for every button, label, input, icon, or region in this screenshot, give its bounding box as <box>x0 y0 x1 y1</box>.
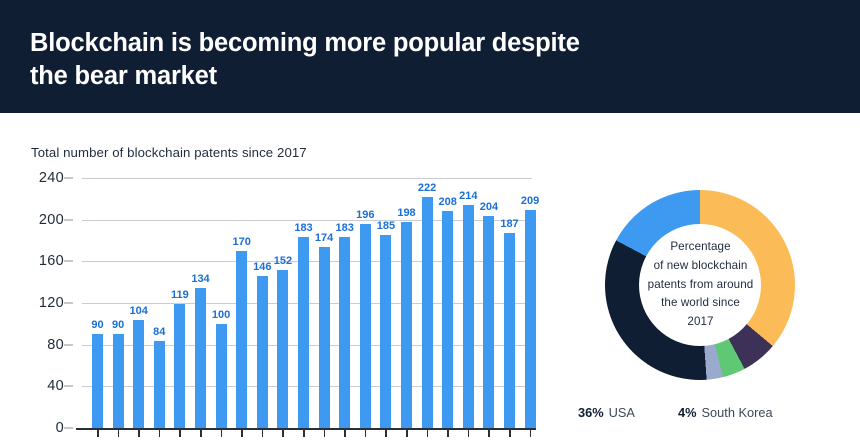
bar <box>195 288 206 428</box>
bar-value-label: 196 <box>356 209 374 221</box>
bar <box>92 334 103 428</box>
x-axis-tick-mark <box>179 430 181 437</box>
bar <box>298 237 309 428</box>
bar <box>442 211 453 428</box>
bar-value-label: 104 <box>130 305 148 317</box>
bar <box>277 270 288 428</box>
bar <box>463 205 474 428</box>
donut-center-line: of new blockchain <box>654 257 748 276</box>
bar-value-label: 152 <box>274 255 292 267</box>
x-axis-tick-mark <box>97 430 99 437</box>
bar-chart: 04080120160200240 9090104841191341001701… <box>0 178 560 448</box>
bar-plot-area: 9090104841191341001701461521831741831961… <box>82 178 532 428</box>
page-title-line2: the bear market <box>30 62 217 90</box>
bar-value-label: 183 <box>294 222 312 234</box>
bar <box>216 324 227 428</box>
bar-value-label: 209 <box>521 195 539 207</box>
donut-legend: 36%USA4%South Korea <box>578 405 860 444</box>
bar <box>319 247 330 428</box>
y-axis-tick-label: 0 <box>56 420 64 436</box>
x-axis-tick-mark <box>241 430 243 437</box>
x-axis-tick-mark <box>427 430 429 437</box>
page-title: Blockchain is becoming more popular desp… <box>30 27 710 92</box>
bar <box>113 334 124 428</box>
bar-value-label: 119 <box>171 289 189 301</box>
bar-value-label: 100 <box>212 309 230 321</box>
x-axis-tick-mark <box>118 430 120 437</box>
donut-center-line: patents from around <box>648 276 754 295</box>
donut-center-line: Percentage <box>670 238 730 257</box>
bar-value-label: 183 <box>336 222 354 234</box>
bar <box>257 276 268 428</box>
bar-value-label: 185 <box>377 220 395 232</box>
y-axis-tick-label: 200 <box>39 212 64 228</box>
bar-value-label: 187 <box>500 218 518 230</box>
x-axis-tick-mark <box>385 430 387 437</box>
bar-value-label: 90 <box>112 319 124 331</box>
donut-center-line: the world since <box>661 294 740 313</box>
x-axis-tick-mark <box>200 430 202 437</box>
x-axis-tick-mark <box>488 430 490 437</box>
infographic-page: Blockchain is becoming more popular desp… <box>0 0 860 448</box>
legend-label: USA <box>609 405 635 420</box>
y-axis-tick-mark <box>64 178 73 179</box>
bar <box>174 304 185 428</box>
y-axis-tick-mark <box>64 219 73 220</box>
x-axis-tick-mark <box>303 430 305 437</box>
bar <box>360 224 371 428</box>
bar-value-label: 84 <box>153 326 165 338</box>
x-axis-tick-mark <box>138 430 140 437</box>
x-axis-tick-mark <box>447 430 449 437</box>
bar-value-label: 208 <box>439 196 457 208</box>
bar <box>339 237 350 428</box>
donut-center-label: Percentageof new blockchainpatents from … <box>596 190 805 380</box>
legend-label: South Korea <box>702 405 773 420</box>
x-axis-tick-mark <box>468 430 470 437</box>
x-axis-tick-mark <box>530 430 532 437</box>
bar <box>525 210 536 428</box>
x-axis-tick-mark <box>262 430 264 437</box>
bar-value-label: 204 <box>480 201 498 213</box>
y-axis-tick-label: 120 <box>39 295 64 311</box>
donut-center-line: 2017 <box>687 313 713 332</box>
bar-value-label: 174 <box>315 232 333 244</box>
bar <box>422 197 433 428</box>
x-axis-tick-mark <box>324 430 326 437</box>
gridline <box>82 178 532 179</box>
x-axis-tick-mark <box>344 430 346 437</box>
donut-chart: Percentageof new blockchainpatents from … <box>596 190 805 380</box>
legend-percent: 4% <box>678 405 697 420</box>
y-axis-tick-label: 40 <box>47 378 64 394</box>
y-axis-tick-mark <box>64 261 73 262</box>
bar <box>483 216 494 429</box>
chart-subtitle: Total number of blockchain patents since… <box>31 145 307 160</box>
bar <box>133 320 144 428</box>
bar-value-label: 146 <box>253 261 271 273</box>
legend-item: 4%South Korea <box>678 405 860 420</box>
y-axis-tick-mark <box>64 303 73 304</box>
y-axis-tick-label: 160 <box>39 253 64 269</box>
y-axis-tick-mark <box>64 386 73 387</box>
y-axis-tick-mark <box>64 428 73 429</box>
bar-value-label: 222 <box>418 182 436 194</box>
y-axis-tick-label: 240 <box>39 170 64 186</box>
x-axis-tick-mark <box>159 430 161 437</box>
x-axis-tick-mark <box>365 430 367 437</box>
bar <box>401 222 412 428</box>
legend-percent: 36% <box>578 405 604 420</box>
y-axis-tick-mark <box>64 344 73 345</box>
bar-value-label: 198 <box>397 207 415 219</box>
bar <box>380 235 391 428</box>
x-axis-tick-mark <box>509 430 511 437</box>
bar-value-label: 90 <box>91 319 103 331</box>
x-axis-tick-mark <box>282 430 284 437</box>
bar <box>504 233 515 428</box>
bar-value-label: 214 <box>459 190 477 202</box>
bar <box>154 341 165 429</box>
bar <box>236 251 247 428</box>
bar-value-label: 134 <box>191 273 209 285</box>
x-axis-tick-mark <box>406 430 408 437</box>
page-title-line1: Blockchain is becoming more popular desp… <box>30 29 580 57</box>
legend-item: 36%USA <box>578 405 678 420</box>
y-axis-tick-label: 80 <box>47 337 64 353</box>
header-banner: Blockchain is becoming more popular desp… <box>0 0 860 113</box>
x-axis-tick-mark <box>221 430 223 437</box>
bar-value-label: 170 <box>233 236 251 248</box>
y-axis: 04080120160200240 <box>0 178 72 438</box>
